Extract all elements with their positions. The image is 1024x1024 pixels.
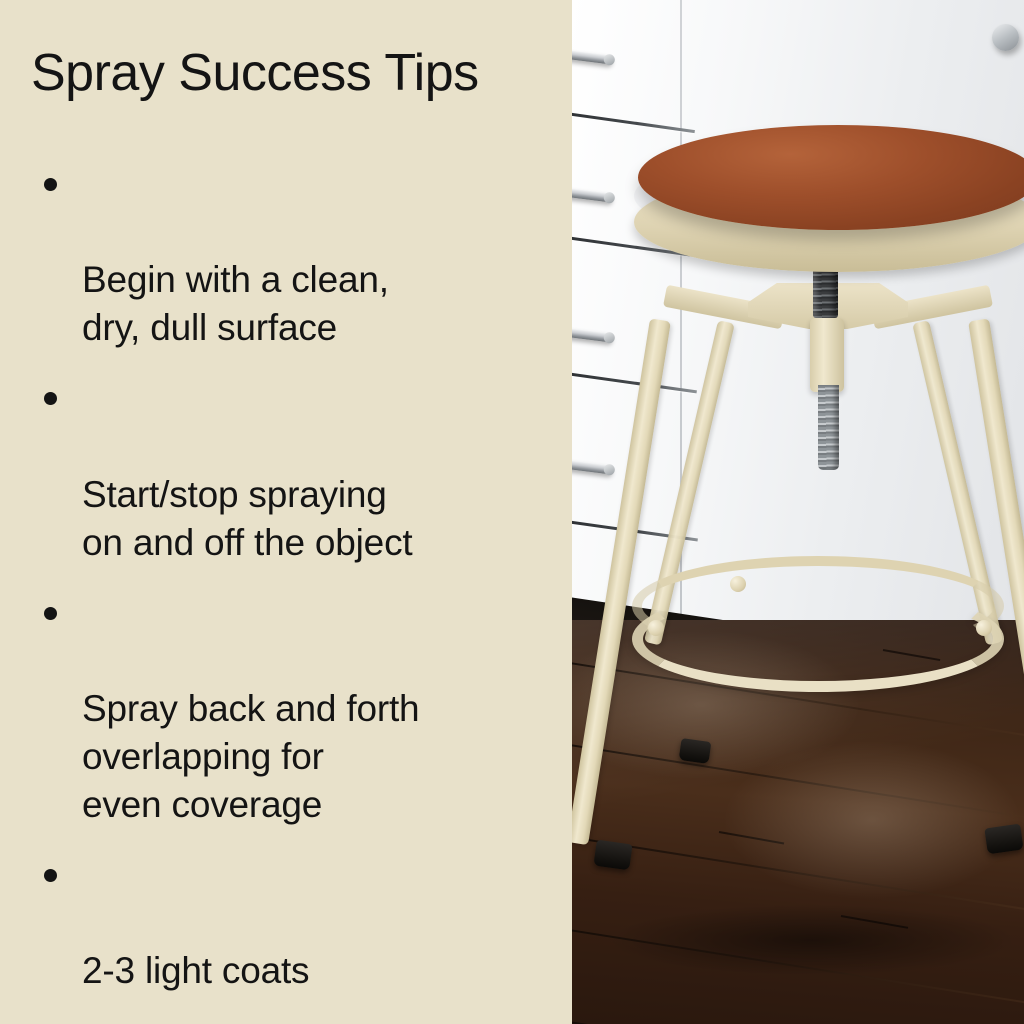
list-item-text: Begin with a clean, dry, dull surface bbox=[82, 259, 389, 348]
tips-list: Begin with a clean, dry, dull surface St… bbox=[0, 160, 572, 1024]
tips-text-panel: Spray Success Tips Begin with a clean, d… bbox=[0, 0, 572, 1024]
ring-rivet bbox=[648, 620, 664, 636]
cabinet-knob[interactable] bbox=[992, 24, 1019, 51]
product-photo-panel bbox=[572, 0, 1024, 1024]
list-item: Work outside or in a well ventilated are… bbox=[0, 1018, 572, 1024]
stool-floor-shadow bbox=[612, 905, 1012, 975]
bullet-dot-icon bbox=[44, 178, 57, 191]
page-title: Spray Success Tips bbox=[31, 46, 551, 101]
list-item-text: Spray back and forth overlapping for eve… bbox=[82, 688, 419, 825]
stool-footrest-ring bbox=[632, 586, 1004, 692]
stool-toe-cap bbox=[984, 824, 1023, 855]
stool-screw-post bbox=[818, 385, 839, 470]
list-item: Spray back and forth overlapping for eve… bbox=[0, 589, 572, 829]
bullet-dot-icon bbox=[44, 392, 57, 405]
list-item: Start/stop spraying on and off the objec… bbox=[0, 374, 572, 566]
stool-toe-cap bbox=[679, 738, 712, 764]
ring-rivet bbox=[976, 620, 992, 636]
list-item: 2-3 light coats bbox=[0, 851, 572, 995]
ring-rivet bbox=[730, 576, 746, 592]
stool-hub-collar bbox=[810, 318, 844, 392]
list-item: Begin with a clean, dry, dull surface bbox=[0, 160, 572, 352]
stool-toe-cap bbox=[593, 840, 632, 871]
bullet-dot-icon bbox=[44, 607, 57, 620]
stool-seat bbox=[638, 125, 1024, 230]
list-item-text: Start/stop spraying on and off the objec… bbox=[82, 474, 412, 563]
bullet-dot-icon bbox=[44, 869, 57, 882]
list-item-text: 2-3 light coats bbox=[82, 950, 309, 991]
infographic-canvas: Spray Success Tips Begin with a clean, d… bbox=[0, 0, 1024, 1024]
